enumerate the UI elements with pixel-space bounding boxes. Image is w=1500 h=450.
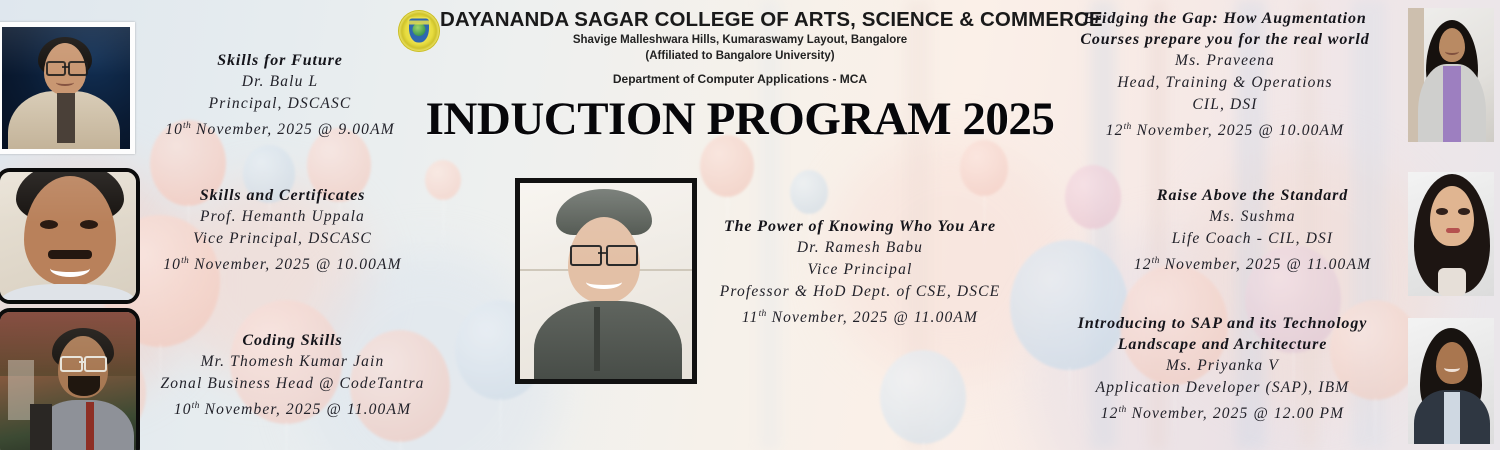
photo-ms-priyanka-v: [1408, 318, 1494, 444]
session-left-3: Coding Skills Mr. Thomesh Kumar Jain Zon…: [130, 330, 455, 421]
session-datetime: 12th November, 2025 @ 12.00 PM: [1040, 399, 1405, 425]
session-right-1: Bridging the Gap: How Augmentation Cours…: [1045, 8, 1405, 142]
session-designation: Zonal Business Head @ CodeTantra: [130, 373, 455, 395]
session-speaker: Prof. Hemanth Uppala: [130, 206, 435, 228]
session-title: Coding Skills: [130, 330, 455, 351]
session-designation: Application Developer (SAP), IBM: [1040, 377, 1405, 399]
session-title: Landscape and Architecture: [1040, 334, 1405, 355]
session-speaker: Ms. Sushma: [1100, 206, 1405, 228]
session-datetime: 10th November, 2025 @ 10.00AM: [130, 250, 435, 276]
session-datetime: 10th November, 2025 @ 11.00AM: [130, 395, 455, 421]
session-title: Skills and Certificates: [130, 185, 435, 206]
session-speaker: Ms. Praveena: [1045, 50, 1405, 72]
session-designation: Principal, DSCASC: [135, 93, 425, 115]
session-designation: Vice Principal: [690, 259, 1030, 281]
session-speaker: Dr. Balu L: [135, 71, 425, 93]
session-right-2: Raise Above the Standard Ms. Sushma Life…: [1100, 185, 1405, 276]
session-designation: Vice Principal, DSCASC: [130, 228, 435, 250]
session-title: Courses prepare you for the real world: [1045, 29, 1405, 50]
session-designation: CIL, DSI: [1045, 94, 1405, 116]
photo-mr-thomesh-kumar-jain: [0, 308, 140, 450]
session-center-1: The Power of Knowing Who You Are Dr. Ram…: [690, 216, 1030, 329]
college-address: Shavige Malleshwara Hills, Kumaraswamy L…: [440, 34, 1040, 46]
photo-ms-sushma: [1408, 172, 1494, 296]
college-affiliation: (Affiliated to Bangalore University): [440, 50, 1040, 62]
session-designation: Head, Training & Operations: [1045, 72, 1405, 94]
session-left-2: Skills and Certificates Prof. Hemanth Up…: [130, 185, 435, 276]
session-designation: Professor & HoD Dept. of CSE, DSCE: [690, 281, 1030, 303]
photo-dr-ramesh-babu: [515, 178, 697, 384]
session-left-1: Skills for Future Dr. Balu L Principal, …: [135, 50, 425, 141]
event-title: INDUCTION PROGRAM 2025: [390, 92, 1090, 146]
session-title: The Power of Knowing Who You Are: [690, 216, 1030, 237]
session-datetime: 11th November, 2025 @ 11.00AM: [690, 303, 1030, 329]
session-datetime: 10th November, 2025 @ 9.00AM: [135, 115, 425, 141]
photo-ms-praveena: [1408, 8, 1494, 142]
session-title: Introducing to SAP and its Technology: [1040, 313, 1405, 334]
session-right-3: Introducing to SAP and its Technology La…: [1040, 313, 1405, 425]
session-title: Bridging the Gap: How Augmentation: [1045, 8, 1405, 29]
college-name: DAYANANDA SAGAR COLLEGE OF ARTS, SCIENCE…: [440, 8, 1040, 32]
session-speaker: Ms. Priyanka V: [1040, 355, 1405, 377]
session-speaker: Mr. Thomesh Kumar Jain: [130, 351, 455, 373]
session-speaker: Dr. Ramesh Babu: [690, 237, 1030, 259]
session-datetime: 12th November, 2025 @ 10.00AM: [1045, 116, 1405, 142]
session-datetime: 12th November, 2025 @ 11.00AM: [1100, 250, 1405, 276]
college-crest-icon: [398, 10, 440, 52]
session-designation: Life Coach - CIL, DSI: [1100, 228, 1405, 250]
session-title: Raise Above the Standard: [1100, 185, 1405, 206]
induction-program-poster: DAYANANDA SAGAR COLLEGE OF ARTS, SCIENCE…: [0, 0, 1500, 450]
department-name: Department of Computer Applications - MC…: [440, 72, 1040, 86]
photo-dr-balu-l: [0, 22, 135, 154]
session-title: Skills for Future: [135, 50, 425, 71]
photo-prof-hemanth-uppala: [0, 168, 140, 304]
